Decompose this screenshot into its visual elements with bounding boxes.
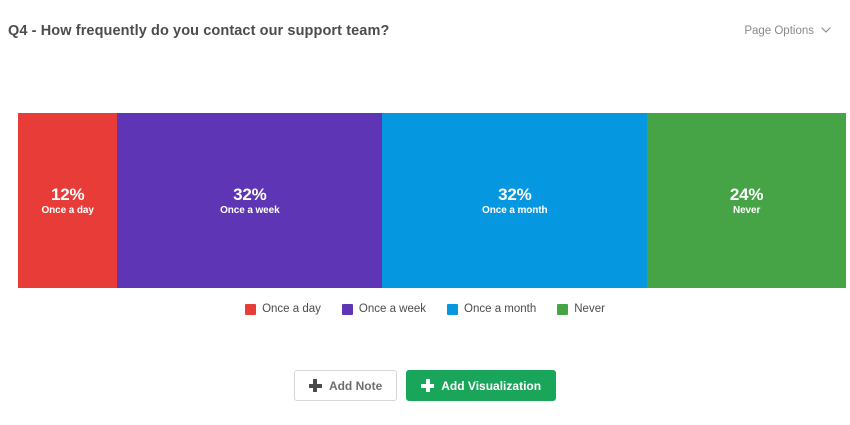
bar-segment[interactable]: 32%Once a week	[117, 113, 382, 288]
stacked-bar: 12%Once a day32%Once a week32%Once a mon…	[18, 113, 846, 288]
page-options-label: Page Options	[744, 25, 814, 37]
legend-swatch-icon	[342, 304, 353, 315]
bar-segment[interactable]: 32%Once a month	[382, 113, 647, 288]
bar-segment-percent: 24%	[730, 185, 763, 204]
chart-legend: Once a dayOnce a weekOnce a monthNever	[0, 303, 850, 315]
bar-segment-label: Once a week	[220, 204, 280, 217]
bar-segment[interactable]: 24%Never	[647, 113, 846, 288]
plus-icon	[309, 379, 322, 392]
page-title: Q4 - How frequently do you contact our s…	[8, 23, 389, 39]
bar-segment-label: Never	[733, 204, 760, 217]
bar-segment[interactable]: 12%Once a day	[18, 113, 117, 288]
stacked-bar-chart: 12%Once a day32%Once a week32%Once a mon…	[18, 113, 846, 288]
legend-item[interactable]: Once a month	[447, 303, 536, 315]
legend-item[interactable]: Never	[557, 303, 605, 315]
add-visualization-button[interactable]: Add Visualization	[406, 370, 556, 401]
bar-segment-percent: 32%	[233, 185, 266, 204]
legend-label: Once a week	[359, 303, 426, 315]
bar-segment-percent: 12%	[51, 185, 84, 204]
action-button-row: Add Note Add Visualization	[0, 370, 850, 401]
legend-label: Once a month	[464, 303, 536, 315]
add-note-label: Add Note	[329, 379, 382, 393]
add-note-button[interactable]: Add Note	[294, 370, 397, 401]
page-header: Q4 - How frequently do you contact our s…	[0, 0, 850, 62]
legend-swatch-icon	[245, 304, 256, 315]
legend-item[interactable]: Once a day	[245, 303, 321, 315]
legend-swatch-icon	[447, 304, 458, 315]
legend-label: Once a day	[262, 303, 321, 315]
bar-segment-label: Once a month	[482, 204, 547, 217]
legend-item[interactable]: Once a week	[342, 303, 426, 315]
add-visualization-label: Add Visualization	[441, 379, 541, 393]
bar-segment-percent: 32%	[498, 185, 531, 204]
chevron-down-icon	[821, 25, 830, 34]
plus-icon	[421, 379, 434, 392]
legend-label: Never	[574, 303, 605, 315]
legend-swatch-icon	[557, 304, 568, 315]
bar-segment-label: Once a day	[41, 204, 93, 217]
page-options-button[interactable]: Page Options	[744, 25, 832, 37]
